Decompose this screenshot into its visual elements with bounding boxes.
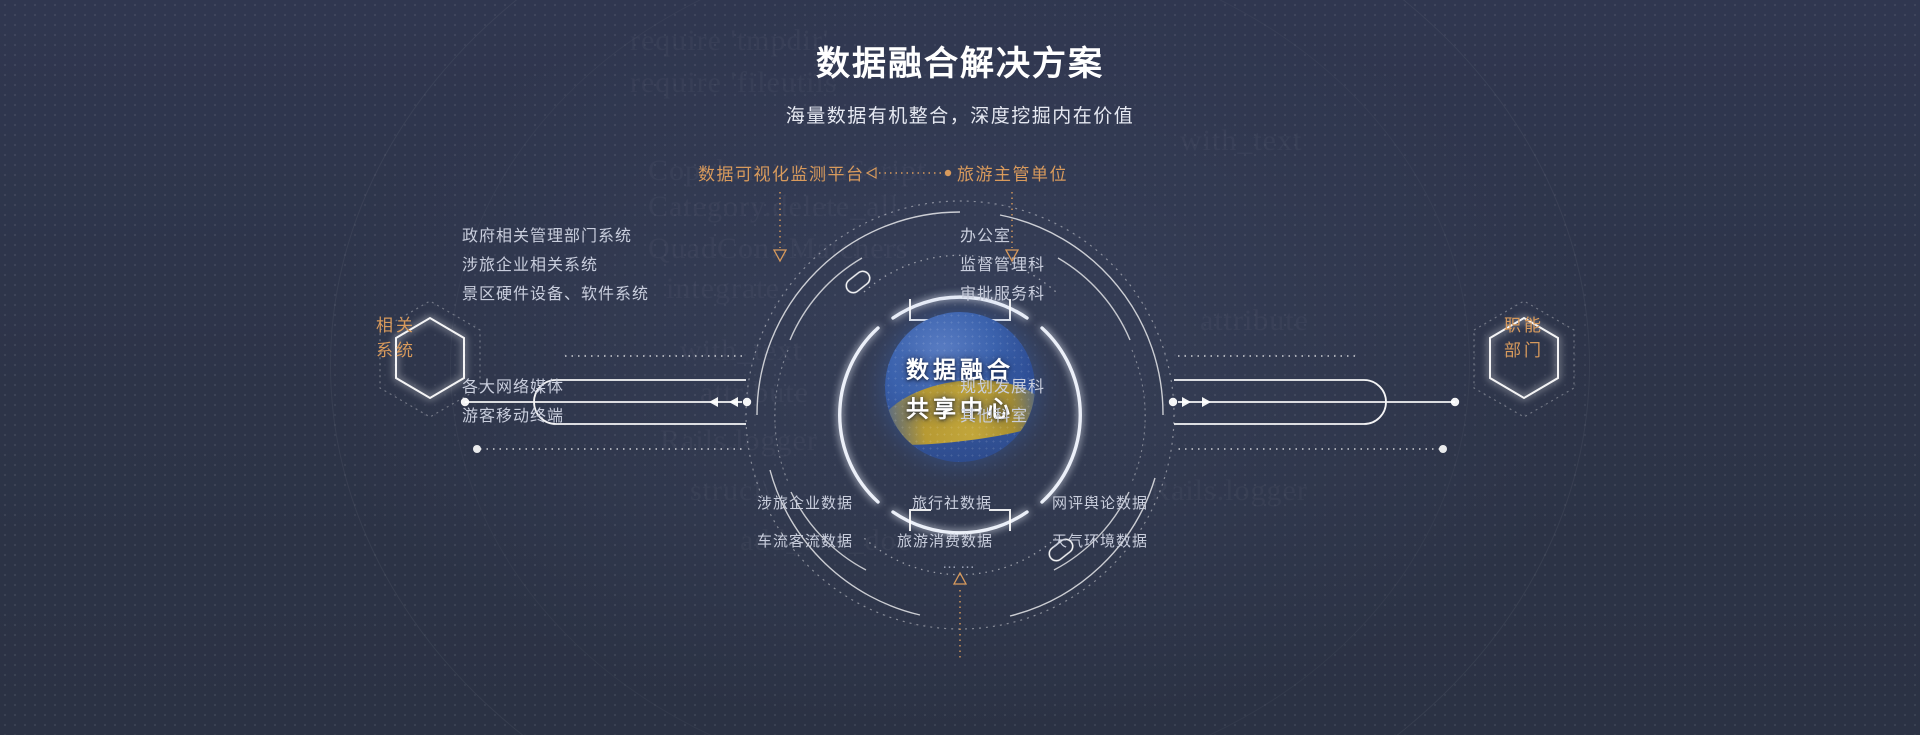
left-sources-top: 政府相关管理部门系统 涉旅企业相关系统 景区硬件设备、软件系统 xyxy=(462,222,649,309)
list-item: 审批服务科 xyxy=(960,280,1045,309)
hexagon-left-line1: 相关 xyxy=(376,313,416,338)
label-visualization-platform: 数据可视化监测平台 xyxy=(698,160,865,185)
hexagon-right-text: 职能 部门 xyxy=(1458,273,1590,403)
list-item: 规划发展科 xyxy=(960,373,1045,402)
hexagon-functional-departments: 职能 部门 xyxy=(1458,273,1590,403)
left-sources-bottom: 各大网络媒体 游客移动终端 xyxy=(462,373,564,431)
bottom-label: 旅行社数据 xyxy=(912,492,992,513)
bottom-label: 网评舆论数据 xyxy=(1052,492,1148,513)
page-subtitle: 海量数据有机整合，深度挖掘内在价值 xyxy=(0,101,1920,128)
list-item: 办公室 xyxy=(960,222,1045,251)
infographic-stage: require 'tmpdir' require 'fileutils' Cop… xyxy=(0,0,1920,735)
hexagon-left-text: 相关 系统 xyxy=(330,273,462,403)
hexagon-right-line2: 部门 xyxy=(1504,338,1544,363)
dotted-arrow-left-icon xyxy=(866,166,954,180)
label-tourism-authority: 旅游主管单位 xyxy=(957,160,1068,185)
bottom-label: 旅游消费数据 xyxy=(897,530,993,551)
bottom-label: 车流客流数据 xyxy=(757,530,853,551)
bottom-label: 涉旅企业数据 xyxy=(757,492,853,513)
right-departments-bottom: 规划发展科 其他科室 xyxy=(960,373,1045,431)
list-item: 监督管理科 xyxy=(960,251,1045,280)
list-item: 游客移动终端 xyxy=(462,402,564,431)
list-item: 政府相关管理部门系统 xyxy=(462,222,649,251)
list-item: 景区硬件设备、软件系统 xyxy=(462,280,649,309)
hexagon-left-line2: 系统 xyxy=(376,338,416,363)
bottom-label: 天气环境数据 xyxy=(1052,530,1148,551)
list-item: 各大网络媒体 xyxy=(462,373,564,402)
right-departments-top: 办公室 监督管理科 审批服务科 xyxy=(960,222,1045,309)
hexagon-right-line1: 职能 xyxy=(1504,313,1544,338)
list-item: 涉旅企业相关系统 xyxy=(462,251,649,280)
hexagon-related-systems: 相关 系统 xyxy=(330,273,462,403)
header: 数据融合解决方案 海量数据有机整合，深度挖掘内在价值 xyxy=(0,0,1920,128)
bottom-ellipsis: …… xyxy=(0,555,1920,572)
top-labels-group: 数据可视化监测平台 旅游主管单位 xyxy=(0,160,1920,186)
list-item: 其他科室 xyxy=(960,402,1045,431)
page-title: 数据融合解决方案 xyxy=(0,36,1920,85)
